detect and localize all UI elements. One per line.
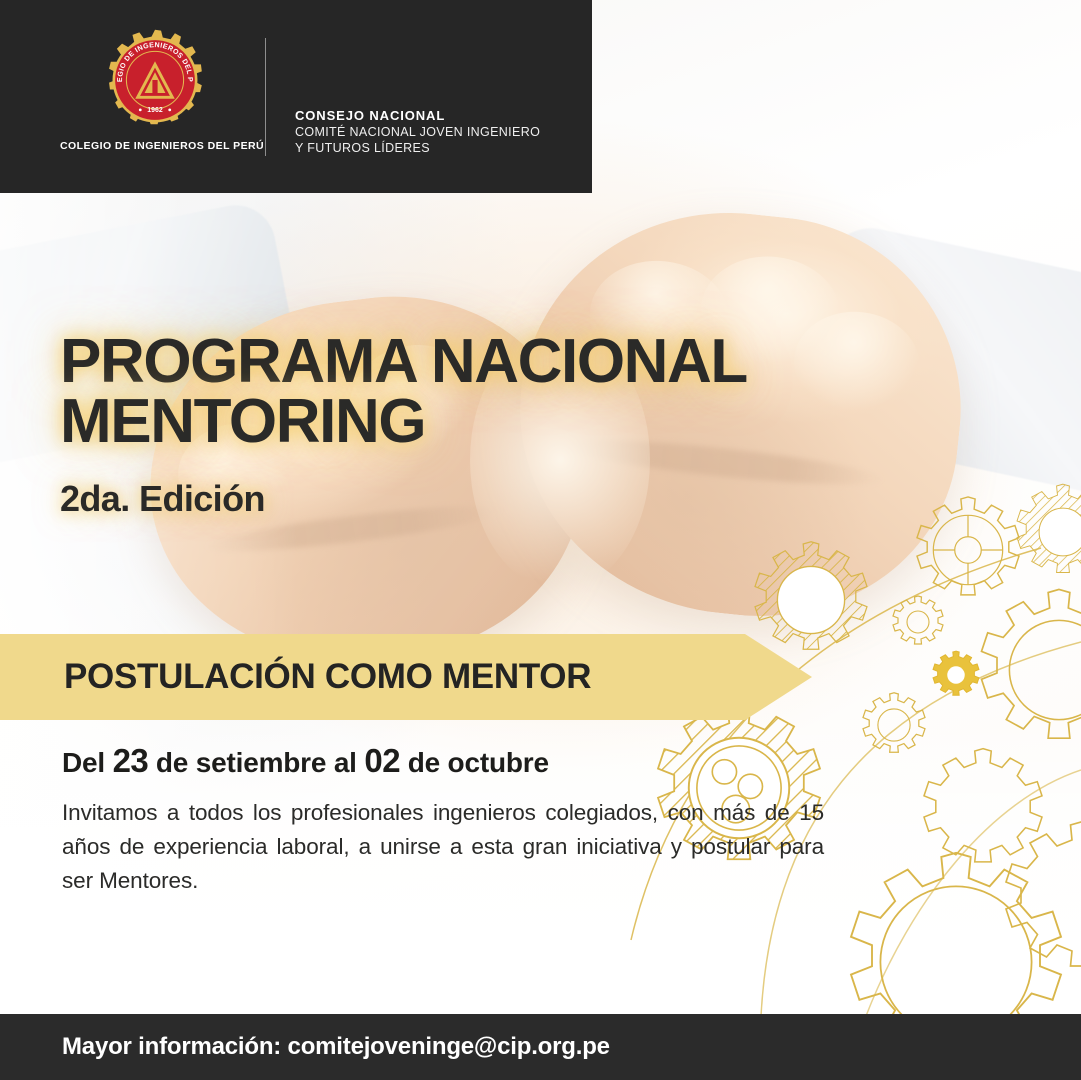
page-title: PROGRAMA NACIONAL MENTORING — [60, 332, 840, 452]
cip-logo: COLEGIO DE INGENIEROS DEL PERU 1962 — [60, 28, 250, 152]
header-line-comite: COMITÉ NACIONAL JOVEN INGENIERO — [295, 124, 540, 140]
footer-contact[interactable]: Mayor información: comitejoveninge@cip.o… — [62, 1033, 610, 1061]
svg-text:1962: 1962 — [147, 107, 163, 114]
cip-logo-wordmark: COLEGIO DE INGENIEROS DEL PERÚ — [60, 140, 250, 152]
header-line-consejo: CONSEJO NACIONAL — [295, 108, 540, 124]
hero-block: PROGRAMA NACIONAL MENTORING 2da. Edición — [60, 332, 840, 518]
date-prefix: Del — [62, 747, 105, 778]
footer-bar: Mayor información: comitejoveninge@cip.o… — [0, 1014, 1081, 1080]
vertical-divider-icon — [265, 38, 266, 156]
date-range: Del 23 de setiembre al 02 de octubre — [62, 742, 549, 780]
date-end-number: 02 — [364, 742, 400, 779]
poster-root: COLEGIO DE INGENIEROS DEL PERU 1962 — [0, 0, 1081, 1080]
date-middle: de setiembre al — [156, 747, 357, 778]
body-paragraph: Invitamos a todos los profesionales inge… — [62, 796, 824, 898]
header-bar: COLEGIO DE INGENIEROS DEL PERU 1962 — [0, 0, 592, 193]
page-subtitle: 2da. Edición — [60, 480, 840, 518]
header-titles: CONSEJO NACIONAL COMITÉ NACIONAL JOVEN I… — [295, 108, 540, 156]
cip-gear-emblem-icon: COLEGIO DE INGENIEROS DEL PERU 1962 — [103, 28, 207, 132]
date-suffix: de octubre — [408, 747, 549, 778]
banner-label: POSTULACIÓN COMO MENTOR — [64, 657, 591, 697]
header-line-lideres: Y FUTUROS LÍDERES — [295, 140, 540, 156]
date-start-number: 23 — [113, 742, 149, 779]
arrow-ribbon-icon: POSTULACIÓN COMO MENTOR — [0, 634, 812, 720]
